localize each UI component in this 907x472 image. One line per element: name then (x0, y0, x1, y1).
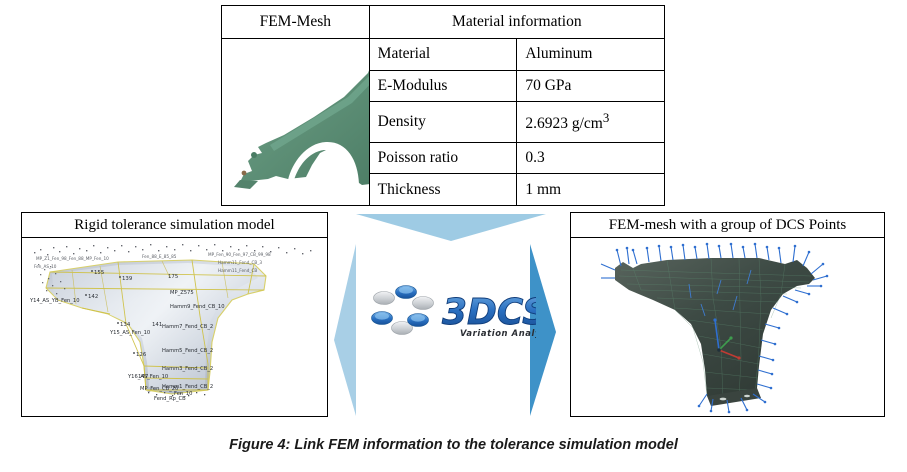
link-arrows-group: 3DCS Variation Analyst (334, 214, 568, 418)
rigid-tolerance-model-render: MP_Z1_Fen_98_Fen_88_MP_Fen_10 Fen_88_E_8… (22, 238, 327, 416)
row-value-0: Aluminum (517, 39, 665, 71)
svg-text:Fen_AS_10: Fen_AS_10 (34, 264, 57, 269)
row-value-1: 70 GPa (517, 70, 665, 102)
header-fem-mesh: FEM-Mesh (222, 6, 370, 39)
fem-material-table: FEM-Mesh Material information (221, 5, 665, 206)
label-mp-z575: MP_Z575 (170, 290, 194, 296)
arrow-left-icon (334, 244, 356, 416)
node-label-126: 126 (136, 352, 147, 358)
svg-text:MP_Z1_Fen_98_Fen_88_MP_Fen_10: MP_Z1_Fen_98_Fen_88_MP_Fen_10 (36, 256, 109, 261)
fender-green-icon (228, 43, 369, 203)
row-value-2: 2.6923 g/cm3 (517, 102, 665, 142)
node-label-175: 175 (168, 274, 178, 280)
fem-dcs-points-panel-title: FEM-mesh with a group of DCS Points (571, 213, 884, 238)
node-label-134: 134 (120, 322, 131, 328)
rigid-tolerance-panel-title: Rigid tolerance simulation model (22, 213, 327, 238)
row-label-0: Material (369, 39, 517, 71)
header-material-information: Material information (369, 6, 664, 39)
label-hamm9: Hamm9_Fend_CB_10 (170, 304, 225, 310)
row-value-4: 1 mm (517, 174, 665, 206)
row-value-3: 0.3 (517, 142, 665, 174)
fem-dcs-points-panel: FEM-mesh with a group of DCS Points (570, 212, 885, 417)
density-exponent: 3 (603, 110, 609, 125)
row-label-3: Poisson ratio (369, 142, 517, 174)
rigid-model-icon: MP_Z1_Fen_98_Fen_88_MP_Fen_10 Fen_88_E_8… (22, 238, 327, 416)
label-y16: Y16_AS_Fen_10 (127, 374, 168, 380)
rigid-tolerance-panel: Rigid tolerance simulation model (21, 212, 328, 417)
logo-3dcs: 3DCS Variation Analyst (368, 276, 536, 348)
fem-dcs-mesh-icon (571, 238, 884, 416)
table-row: Material Aluminum (222, 39, 665, 71)
logo-3dcs-icon: 3DCS Variation Analyst (368, 276, 536, 348)
row-label-2: Density (369, 102, 517, 142)
figure-caption: Figure 4: Link FEM information to the to… (0, 437, 907, 453)
row-label-4: Thickness (369, 174, 517, 206)
fem-mesh-render (222, 39, 369, 205)
svg-text:Hamm11_Fend_CB_3: Hamm11_Fend_CB_3 (218, 260, 262, 265)
label-hamm5: Hamm5_Fend_CB_2 (162, 348, 213, 354)
row-label-1: E-Modulus (369, 70, 517, 102)
arrow-down-icon (356, 214, 546, 241)
svg-text:Fen_88_E_85_85: Fen_88_E_85_85 (142, 254, 177, 259)
label-fend-rp: Fend_Rp_CB (154, 396, 186, 402)
label-hamm3: Hamm3_Fend_CB_2 (162, 366, 213, 372)
label-y15: Y15_AS_Fen_10 (109, 330, 150, 336)
svg-text:MP_Fen_90_Fen_97_CB_99_98: MP_Fen_90_Fen_97_CB_99_98 (208, 252, 271, 257)
svg-text:Hamm11_Fend_CB: Hamm11_Fend_CB (218, 268, 257, 273)
table-header-row: FEM-Mesh Material information (222, 6, 665, 39)
node-label-139: 139 (122, 276, 133, 282)
node-label-142: 142 (88, 294, 98, 300)
logo-wordmark: 3DCS (442, 292, 536, 333)
fem-mesh-image-cell (222, 39, 370, 206)
logo-tagline: Variation Analyst (460, 328, 536, 338)
node-label-155: 155 (94, 270, 104, 276)
fem-dcs-points-render (571, 238, 884, 416)
node-label-141: 141 (152, 322, 162, 328)
label-y14: Y14_AS_YB_Fen_10 (29, 298, 80, 304)
density-value: 2.6923 g/cm (525, 116, 603, 133)
label-mp-lower: MP_Fen_CB_20 (140, 386, 178, 392)
label-hamm7: Hamm7_Fend_CB_2 (162, 324, 213, 330)
